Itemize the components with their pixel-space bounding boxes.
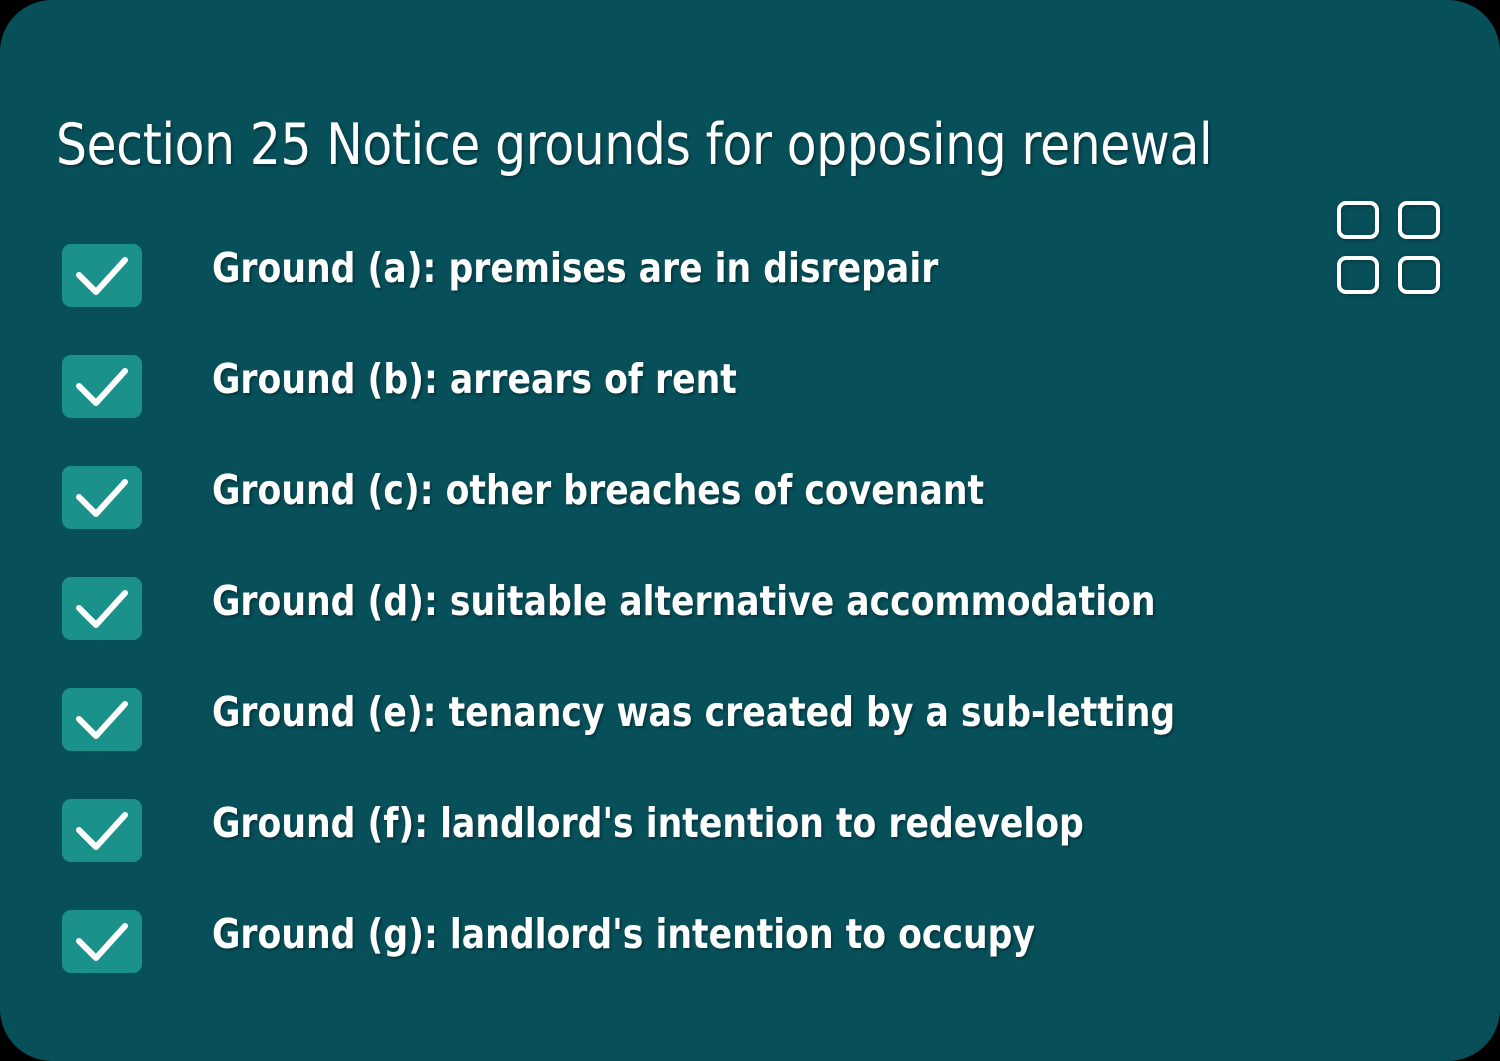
page-title: Section 25 Notice grounds for opposing r… <box>56 95 1116 195</box>
checkmark-icon <box>62 799 142 862</box>
ground-row[interactable]: Ground (c): other breaches of covenant <box>0 456 1500 567</box>
ground-row[interactable]: Ground (a): premises are in disrepair <box>0 234 1500 345</box>
checkmark-icon <box>62 466 142 529</box>
ground-label: Ground (c): other breaches of covenant <box>212 462 984 518</box>
ground-row[interactable]: Ground (e): tenancy was created by a sub… <box>0 678 1500 789</box>
ground-label: Ground (f): landlord's intention to rede… <box>212 795 1084 851</box>
header: Section 25 Notice grounds for opposing r… <box>0 95 1500 205</box>
slide-card: Section 25 Notice grounds for opposing r… <box>0 0 1500 1061</box>
ground-checkbox[interactable] <box>62 688 142 751</box>
ground-label: Ground (d): suitable alternative accommo… <box>212 573 1156 629</box>
ground-row[interactable]: Ground (f): landlord's intention to rede… <box>0 789 1500 900</box>
checkmark-icon <box>62 355 142 418</box>
ground-label: Ground (b): arrears of rent <box>212 351 737 407</box>
ground-checkbox[interactable] <box>62 910 142 973</box>
ground-label: Ground (e): tenancy was created by a sub… <box>212 684 1175 740</box>
ground-row[interactable]: Ground (b): arrears of rent <box>0 345 1500 456</box>
ground-label: Ground (a): premises are in disrepair <box>212 240 938 296</box>
ground-checkbox[interactable] <box>62 466 142 529</box>
ground-checkbox[interactable] <box>62 355 142 418</box>
checkmark-icon <box>62 688 142 751</box>
checkmark-icon <box>62 244 142 307</box>
ground-row[interactable]: Ground (g): landlord's intention to occu… <box>0 900 1500 1011</box>
ground-label: Ground (g): landlord's intention to occu… <box>212 906 1035 962</box>
ground-checkbox[interactable] <box>62 799 142 862</box>
ground-checkbox[interactable] <box>62 577 142 640</box>
grounds-list: Ground (a): premises are in disrepairGro… <box>0 234 1500 1011</box>
ground-row[interactable]: Ground (d): suitable alternative accommo… <box>0 567 1500 678</box>
checkmark-icon <box>62 577 142 640</box>
ground-checkbox[interactable] <box>62 244 142 307</box>
checkmark-icon <box>62 910 142 973</box>
